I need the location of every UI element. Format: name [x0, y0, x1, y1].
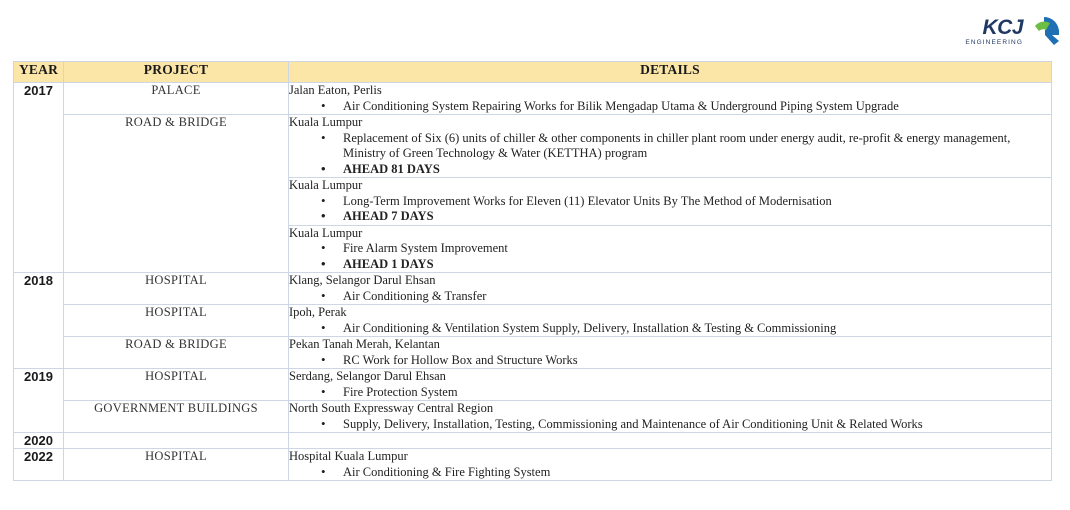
logo-emblem-icon: [1026, 14, 1062, 50]
project-cell: [64, 433, 289, 449]
details-cell: Pekan Tanah Merah, KelantanRC Work for H…: [289, 337, 1052, 369]
details-cell: Jalan Eaton, PerlisAir Conditioning Syst…: [289, 83, 1052, 115]
detail-bullet-list: RC Work for Hollow Box and Structure Wor…: [289, 353, 1051, 369]
table-body: 2017PALACEJalan Eaton, PerlisAir Conditi…: [14, 83, 1052, 481]
detail-bullet-item: Supply, Delivery, Installation, Testing,…: [289, 417, 1051, 433]
project-cell: ROAD & BRIDGE: [64, 115, 289, 273]
logo-name: KCJ: [982, 18, 1023, 38]
column-header-year: YEAR: [14, 62, 64, 83]
project-cell: PALACE: [64, 83, 289, 115]
detail-bullet-list: Air Conditioning & Transfer: [289, 289, 1051, 305]
project-cell: HOSPITAL: [64, 449, 289, 481]
year-cell: 2019: [14, 369, 64, 433]
detail-location: Pekan Tanah Merah, Kelantan: [289, 337, 1051, 353]
details-cell: Hospital Kuala LumpurAir Conditioning & …: [289, 449, 1052, 481]
logo-wordmark: KCJ ENGINEERING: [965, 18, 1023, 47]
detail-bullet-item: Long-Term Improvement Works for Eleven (…: [289, 194, 1051, 210]
detail-bullet-item: AHEAD 1 DAYS: [289, 257, 1051, 273]
table-row: HOSPITALIpoh, PerakAir Conditioning & Ve…: [14, 305, 1052, 337]
table-row: ROAD & BRIDGEPekan Tanah Merah, Kelantan…: [14, 337, 1052, 369]
detail-location: Kuala Lumpur: [289, 226, 1051, 242]
details-cell: Kuala LumpurFire Alarm System Improvemen…: [289, 225, 1052, 273]
detail-bullet-item: Air Conditioning & Ventilation System Su…: [289, 321, 1051, 337]
detail-bullet-item: AHEAD 7 DAYS: [289, 209, 1051, 225]
detail-bullet-list: Replacement of Six (6) units of chiller …: [289, 131, 1051, 178]
details-cell: Kuala LumpurLong-Term Improvement Works …: [289, 178, 1052, 226]
table-row: 2022HOSPITALHospital Kuala LumpurAir Con…: [14, 449, 1052, 481]
detail-bullet-item: Air Conditioning & Fire Fighting System: [289, 465, 1051, 481]
detail-bullet-list: Air Conditioning & Ventilation System Su…: [289, 321, 1051, 337]
detail-bullet-list: Air Conditioning & Fire Fighting System: [289, 465, 1051, 481]
detail-bullet-list: Air Conditioning System Repairing Works …: [289, 99, 1051, 115]
header-row: YEAR PROJECT DETAILS: [14, 62, 1052, 83]
table-header: YEAR PROJECT DETAILS: [14, 62, 1052, 83]
details-cell: Klang, Selangor Darul EhsanAir Condition…: [289, 273, 1052, 305]
detail-bullet-list: Supply, Delivery, Installation, Testing,…: [289, 417, 1051, 433]
table-row: 2018HOSPITALKlang, Selangor Darul EhsanA…: [14, 273, 1052, 305]
detail-bullet-list: Fire Alarm System ImprovementAHEAD 1 DAY…: [289, 241, 1051, 272]
column-header-details: DETAILS: [289, 62, 1052, 83]
company-logo: KCJ ENGINEERING: [936, 10, 1062, 54]
detail-bullet-list: Fire Protection System: [289, 385, 1051, 401]
table-row: 2020: [14, 433, 1052, 449]
details-cell: Kuala LumpurReplacement of Six (6) units…: [289, 115, 1052, 178]
details-cell: Serdang, Selangor Darul EhsanFire Protec…: [289, 369, 1052, 401]
table-row: 2017PALACEJalan Eaton, PerlisAir Conditi…: [14, 83, 1052, 115]
detail-location: Jalan Eaton, Perlis: [289, 83, 1051, 99]
logo-subtitle: ENGINEERING: [965, 39, 1023, 47]
detail-bullet-item: RC Work for Hollow Box and Structure Wor…: [289, 353, 1051, 369]
table-row: GOVERNMENT BUILDINGSNorth South Expressw…: [14, 401, 1052, 433]
detail-location: Kuala Lumpur: [289, 178, 1051, 194]
details-cell: North South Expressway Central RegionSup…: [289, 401, 1052, 433]
year-cell: 2018: [14, 273, 64, 369]
detail-bullet-item: Air Conditioning System Repairing Works …: [289, 99, 1051, 115]
detail-bullet-item: Fire Alarm System Improvement: [289, 241, 1051, 257]
year-cell: 2017: [14, 83, 64, 273]
detail-bullet-list: Long-Term Improvement Works for Eleven (…: [289, 194, 1051, 225]
detail-location: Serdang, Selangor Darul Ehsan: [289, 369, 1051, 385]
details-cell: [289, 433, 1052, 449]
detail-bullet-item: AHEAD 81 DAYS: [289, 162, 1051, 178]
table-row: ROAD & BRIDGEKuala LumpurReplacement of …: [14, 115, 1052, 178]
detail-location: Klang, Selangor Darul Ehsan: [289, 273, 1051, 289]
detail-bullet-item: Air Conditioning & Transfer: [289, 289, 1051, 305]
detail-bullet-item: Fire Protection System: [289, 385, 1051, 401]
detail-location: Hospital Kuala Lumpur: [289, 449, 1051, 465]
year-cell: 2022: [14, 449, 64, 481]
project-cell: GOVERNMENT BUILDINGS: [64, 401, 289, 433]
detail-location: Kuala Lumpur: [289, 115, 1051, 131]
column-header-project: PROJECT: [64, 62, 289, 83]
year-cell: 2020: [14, 433, 64, 449]
detail-bullet-item: Replacement of Six (6) units of chiller …: [289, 131, 1051, 162]
detail-location: North South Expressway Central Region: [289, 401, 1051, 417]
project-portfolio-table: YEAR PROJECT DETAILS 2017PALACEJalan Eat…: [13, 61, 1052, 481]
details-cell: Ipoh, PerakAir Conditioning & Ventilatio…: [289, 305, 1052, 337]
table-row: 2019HOSPITALSerdang, Selangor Darul Ehsa…: [14, 369, 1052, 401]
project-cell: HOSPITAL: [64, 305, 289, 337]
project-cell: HOSPITAL: [64, 273, 289, 305]
project-cell: HOSPITAL: [64, 369, 289, 401]
detail-location: Ipoh, Perak: [289, 305, 1051, 321]
project-cell: ROAD & BRIDGE: [64, 337, 289, 369]
